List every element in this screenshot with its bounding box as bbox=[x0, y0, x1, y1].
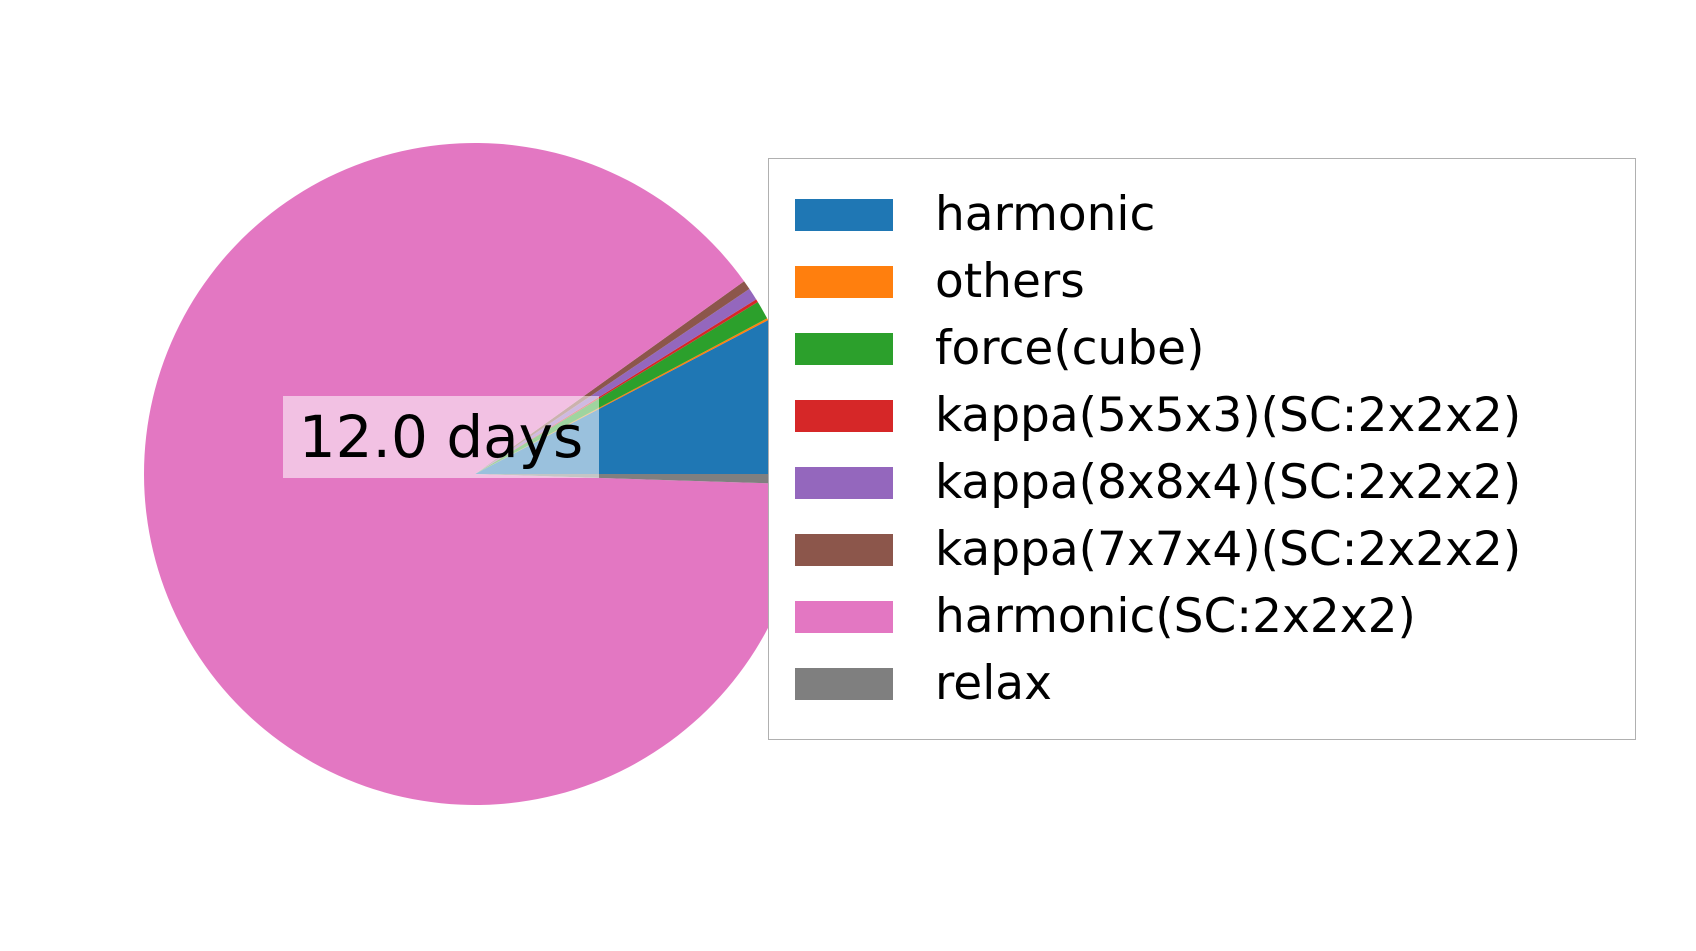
legend-item-label: kappa(5x5x3)(SC:2x2x2) bbox=[935, 392, 1521, 439]
legend-color-swatch bbox=[795, 601, 893, 633]
legend-item[interactable]: kappa(5x5x3)(SC:2x2x2) bbox=[795, 382, 1609, 449]
legend-color-swatch bbox=[795, 400, 893, 432]
legend-color-swatch bbox=[795, 333, 893, 365]
pie-center-total-label: 12.0 days bbox=[283, 396, 599, 478]
legend-item[interactable]: kappa(7x7x4)(SC:2x2x2) bbox=[795, 516, 1609, 583]
legend-item-label: kappa(8x8x4)(SC:2x2x2) bbox=[935, 459, 1521, 506]
legend-item-label: others bbox=[935, 258, 1085, 305]
legend-item-label: harmonic(SC:2x2x2) bbox=[935, 593, 1416, 640]
legend-item-label: relax bbox=[935, 660, 1052, 707]
legend-item-label: harmonic bbox=[935, 191, 1155, 238]
legend-item[interactable]: harmonic(SC:2x2x2) bbox=[795, 583, 1609, 650]
legend-color-swatch bbox=[795, 467, 893, 499]
legend-color-swatch bbox=[795, 534, 893, 566]
legend-item[interactable]: relax bbox=[795, 650, 1609, 717]
legend-color-swatch bbox=[795, 266, 893, 298]
legend-item[interactable]: others bbox=[795, 248, 1609, 315]
legend-item[interactable]: force(cube) bbox=[795, 315, 1609, 382]
legend-item-label: kappa(7x7x4)(SC:2x2x2) bbox=[935, 526, 1521, 573]
pie-center-total-text: 12.0 days bbox=[299, 408, 583, 466]
legend-color-swatch bbox=[795, 199, 893, 231]
legend-item[interactable]: kappa(8x8x4)(SC:2x2x2) bbox=[795, 449, 1609, 516]
figure-canvas: 12.0 days harmonicothersforce(cube)kappa… bbox=[0, 0, 1696, 951]
legend-item[interactable]: harmonic bbox=[795, 181, 1609, 248]
legend-color-swatch bbox=[795, 668, 893, 700]
legend-item-label: force(cube) bbox=[935, 325, 1204, 372]
chart-legend: harmonicothersforce(cube)kappa(5x5x3)(SC… bbox=[768, 158, 1636, 740]
